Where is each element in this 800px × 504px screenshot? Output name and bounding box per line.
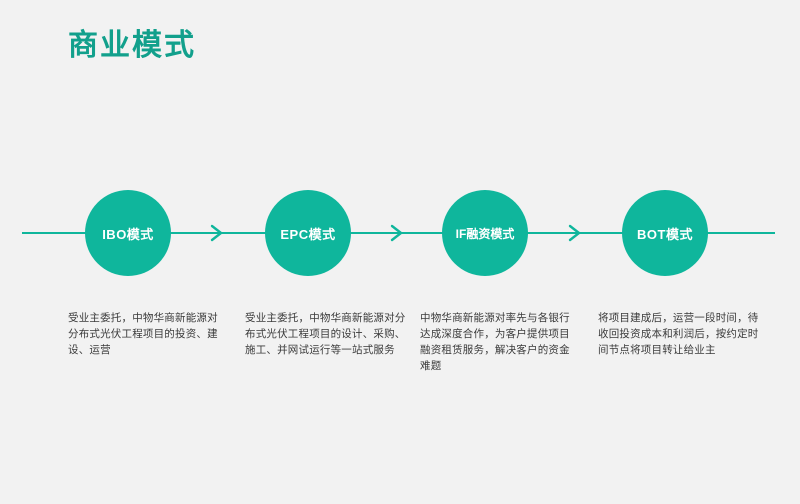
flow-node-bot[interactable]: BOT模式 [622, 190, 708, 276]
flow-node-ibo[interactable]: IBO模式 [85, 190, 171, 276]
process-flow-diagram: IBO模式 EPC模式 IF融资模式 BOT模式 [0, 170, 800, 300]
flow-node-epc[interactable]: EPC模式 [265, 190, 351, 276]
description-text: 受业主委托，中物华商新能源对分布式光伏工程项目的投资、建设、运营 [68, 310, 228, 358]
flow-node-label: BOT模式 [637, 224, 693, 243]
description-text: 将项目建成后，运营一段时间，待收回投资成本和利润后，按约定时间节点将项目转让给业… [598, 310, 766, 358]
flow-node-label: IF融资模式 [456, 225, 515, 242]
flow-node-label: EPC模式 [280, 224, 335, 243]
chevron-right-icon [386, 222, 408, 244]
description-text: 中物华商新能源对率先与各银行达成深度合作，为客户提供项目融资租赁服务，解决客户的… [420, 310, 580, 374]
page-title: 商业模式 [68, 28, 196, 64]
flow-node-label: IBO模式 [102, 224, 154, 243]
business-model-slide: 商业模式 IBO模式 EPC模式 IF融资模式 B [0, 0, 800, 504]
description-group: 受业主委托，中物华商新能源对分布式光伏工程项目的投资、建设、运营 受业主委托，中… [0, 310, 800, 420]
chevron-right-icon [564, 222, 586, 244]
description-text: 受业主委托，中物华商新能源对分布式光伏工程项目的设计、采购、施工、并网试运行等一… [245, 310, 407, 358]
chevron-right-icon [206, 222, 228, 244]
flow-node-if-financing[interactable]: IF融资模式 [442, 190, 528, 276]
